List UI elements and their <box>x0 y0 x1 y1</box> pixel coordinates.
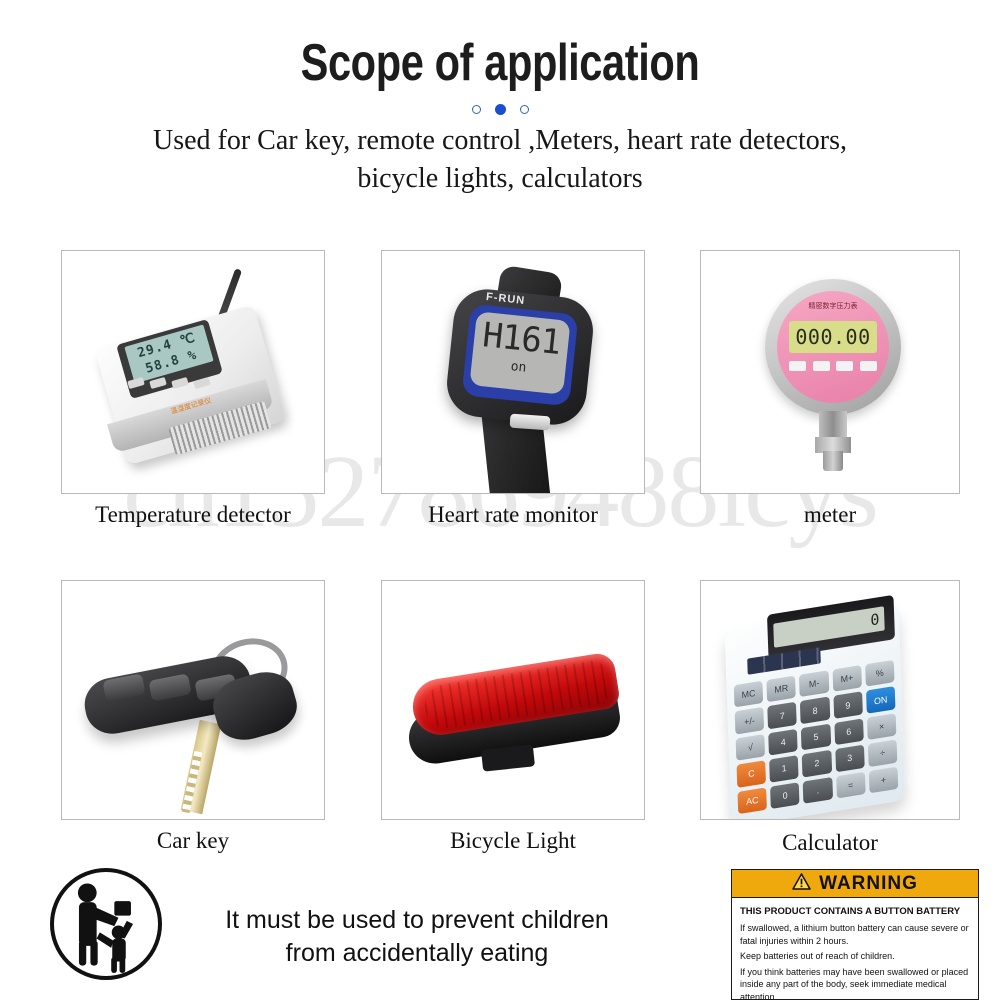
watch-lcd-main: H161 <box>472 311 570 367</box>
calc-key-ac: AC <box>737 787 767 814</box>
warning-paragraph-2: Keep batteries out of reach of children. <box>740 950 970 963</box>
calc-key-signtoggle: +/- <box>735 707 765 734</box>
calculator-keypad: MC MR M- M+ % +/- 7 8 9 ON √ 4 5 6 <box>734 660 899 814</box>
calc-key-mr: MR <box>767 675 797 702</box>
calc-key-equals: = <box>836 771 866 798</box>
calc-key-7: 7 <box>767 702 797 729</box>
meter-lcd: 000.00 <box>789 321 877 353</box>
calc-key-divide: ÷ <box>868 740 898 767</box>
product-image-frame <box>61 580 325 820</box>
warning-paragraph-3: If you think batteries may have been swa… <box>740 966 970 1000</box>
calc-key-2: 2 <box>802 750 832 777</box>
calc-key-4: 4 <box>768 729 798 756</box>
calc-key-multiply: × <box>867 713 897 740</box>
calc-key-9: 9 <box>833 692 863 719</box>
meter-key-1 <box>789 361 806 371</box>
calc-key-5: 5 <box>801 723 831 750</box>
meter-key-2 <box>813 361 830 371</box>
calc-key-6: 6 <box>834 718 864 745</box>
child-safety-line-2: from accidentally eating <box>182 937 652 970</box>
calc-key-1: 1 <box>769 755 799 782</box>
meter-tip-shape <box>823 451 843 471</box>
product-caption: Car key <box>31 828 355 854</box>
calc-key-3: 3 <box>835 745 865 772</box>
calc-key-mminus: M- <box>799 670 829 697</box>
watch-button-shape <box>510 414 551 431</box>
product-image-frame <box>381 580 645 820</box>
product-cell-temperature-detector[interactable]: 29.4 ℃ 58.8 % 温湿度记录仪 Temperature detecto… <box>61 250 325 494</box>
calc-key-0: 0 <box>770 782 800 809</box>
child-safety-line-1: It must be used to prevent children <box>182 904 652 937</box>
product-cell-car-key[interactable]: Car key <box>61 580 325 820</box>
child-safety-notice: It must be used to prevent children from… <box>182 904 652 970</box>
warning-triangle-icon <box>792 873 811 895</box>
keep-away-from-children-icon <box>50 868 162 980</box>
pressure-meter-image: 精密数字压力表 000.00 <box>701 251 959 493</box>
heart-rate-watch-image: H161 on F-RUN <box>382 251 644 493</box>
calc-key-plus: + <box>869 766 899 793</box>
warning-heading: WARNING <box>819 873 918 895</box>
product-cell-heart-rate-monitor[interactable]: H161 on F-RUN Heart rate monitor <box>381 250 645 494</box>
product-caption: Calculator <box>670 830 990 856</box>
temperature-detector-image: 29.4 ℃ 58.8 % 温湿度记录仪 <box>62 251 324 493</box>
car-key-image <box>62 581 324 819</box>
calc-key-decimal: . <box>803 777 833 804</box>
product-grid: 29.4 ℃ 58.8 % 温湿度记录仪 Temperature detecto… <box>0 0 1000 1000</box>
warning-lead-text: THIS PRODUCT CONTAINS A BUTTON BATTERY <box>740 905 970 918</box>
meter-keypad <box>789 361 877 371</box>
product-cell-bicycle-light[interactable]: Bicycle Light <box>381 580 645 820</box>
calc-key-sqrt: √ <box>736 734 766 761</box>
product-caption: meter <box>670 502 990 528</box>
button-battery-warning-label: WARNING THIS PRODUCT CONTAINS A BUTTON B… <box>731 869 979 1000</box>
meter-key-4 <box>860 361 877 371</box>
calc-key-mplus: M+ <box>832 665 862 692</box>
warning-body: THIS PRODUCT CONTAINS A BUTTON BATTERY I… <box>732 898 978 1000</box>
product-cell-calculator[interactable]: 0 MC MR M- M+ % +/- 7 8 9 ON √ 4 <box>700 580 960 820</box>
calc-key-percent: % <box>865 660 895 687</box>
calc-key-8: 8 <box>800 697 830 724</box>
calculator-image: 0 MC MR M- M+ % +/- 7 8 9 ON √ 4 <box>701 581 959 819</box>
scope-of-application-page: Scope of application Used for Car key, r… <box>0 0 1000 1000</box>
product-caption: Heart rate monitor <box>351 502 675 528</box>
warning-paragraph-1: If swallowed, a lithium button battery c… <box>740 922 970 947</box>
watch-lcd: H161 on <box>469 311 570 394</box>
calc-key-c: C <box>737 760 767 787</box>
warning-header: WARNING <box>732 870 978 898</box>
light-clip-shape <box>481 744 535 771</box>
meter-key-3 <box>836 361 853 371</box>
product-caption: Temperature detector <box>31 502 355 528</box>
product-image-frame: 精密数字压力表 000.00 <box>700 250 960 494</box>
calc-key-on: ON <box>866 686 896 713</box>
bicycle-light-image <box>382 581 644 819</box>
calc-key-mc: MC <box>734 681 764 708</box>
product-image-frame: 29.4 ℃ 58.8 % 温湿度记录仪 <box>61 250 325 494</box>
product-cell-meter[interactable]: 精密数字压力表 000.00 meter <box>700 250 960 494</box>
product-image-frame: H161 on F-RUN <box>381 250 645 494</box>
product-image-frame: 0 MC MR M- M+ % +/- 7 8 9 ON √ 4 <box>700 580 960 820</box>
meter-brand-label: 精密数字压力表 <box>789 301 877 311</box>
product-caption: Bicycle Light <box>351 828 675 854</box>
